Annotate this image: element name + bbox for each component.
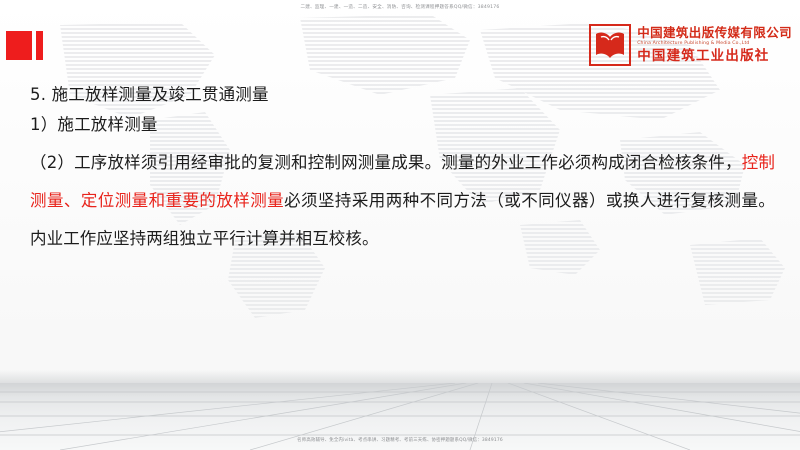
footer-watermark-note: 名师高效辅导、免全内ività、考点串讲、习题精考、考前三天练、协密押题题系QQ… xyxy=(0,437,800,445)
publisher-logo: 中国建筑出版传媒有限公司 China Architecture Publishi… xyxy=(589,24,792,66)
heading-subsection-title: 1）施工放样测量 xyxy=(30,110,775,140)
red-accent-block-large xyxy=(6,31,32,60)
body-paragraph: （2）工序放样须引用经审批的复测和控制网测量成果。测量的外业工作必须构成闭合检核… xyxy=(30,144,775,258)
red-accent-block-small xyxy=(36,31,43,60)
slide-content: 5. 施工放样测量及竣工贯通测量 1）施工放样测量 （2）工序放样须引用经审批的… xyxy=(30,80,775,275)
logo-text-block: 中国建筑出版传媒有限公司 China Architecture Publishi… xyxy=(637,27,792,63)
logo-company-name-cn: 中国建筑出版传媒有限公司 xyxy=(637,27,792,40)
paragraph-segment-1: （2）工序放样须引用经审批的复测和控制网测量成果。测量的外业工作必须构成闭合检核… xyxy=(30,153,742,172)
logo-company-name-en: China Architecture Publishing & Media Co… xyxy=(637,42,792,47)
presentation-slide: 二建、监理、一建、一造、二造、安全、消防、咨询、检测课程押题答系QQ/微信：38… xyxy=(0,0,800,450)
logo-press-name-cn: 中国建筑工业出版社 xyxy=(637,50,792,64)
open-book-logo-mark xyxy=(589,24,631,66)
heading-section-title: 5. 施工放样测量及竣工贯通测量 xyxy=(30,80,775,110)
header-watermark-note: 二建、监理、一建、一造、二造、安全、消防、咨询、检测课程押题答系QQ/微信：38… xyxy=(0,4,800,12)
